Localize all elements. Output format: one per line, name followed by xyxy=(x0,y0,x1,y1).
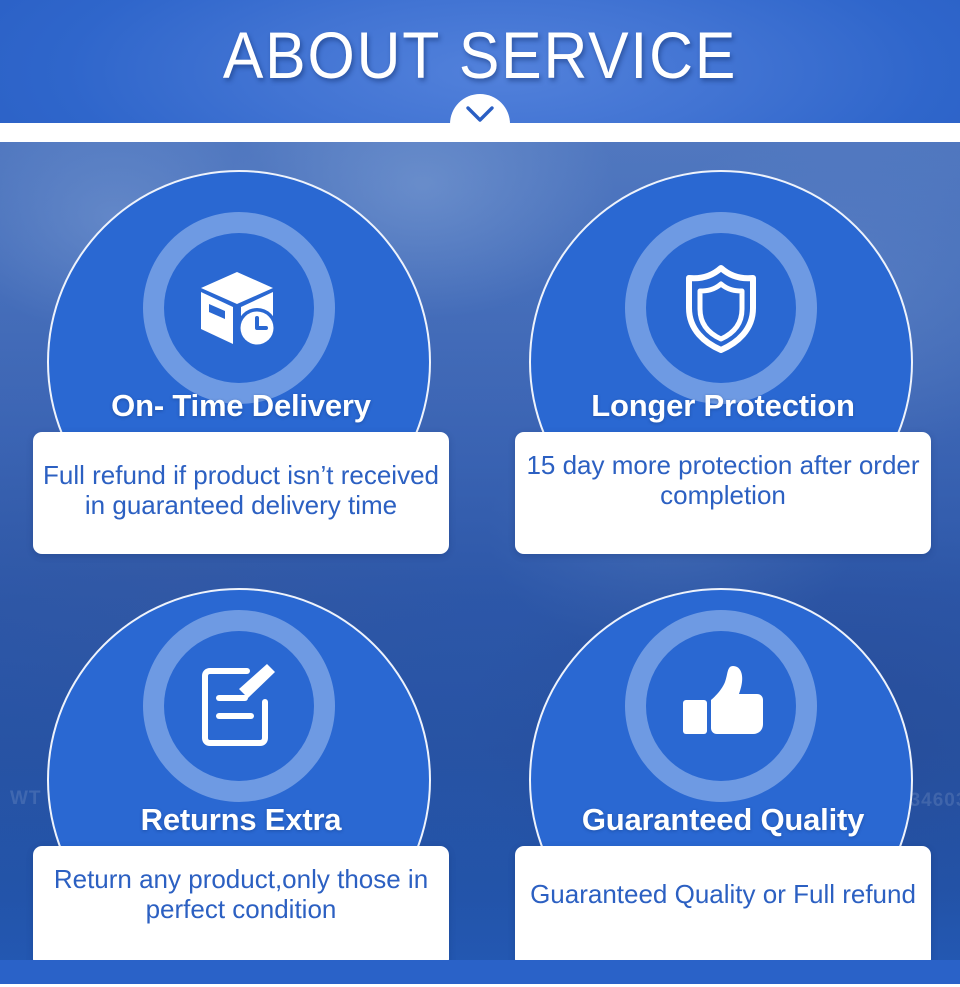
about-service-banner: ABOUT SERVICE WT 134603 xyxy=(0,0,960,987)
document-edit-icon xyxy=(164,631,314,781)
service-card-returns-extra[interactable]: Returns Extra Return any product,only th… xyxy=(0,588,482,987)
shield-icon xyxy=(646,233,796,383)
package-clock-icon xyxy=(164,233,314,383)
thumbs-up-icon xyxy=(646,631,796,781)
service-card-guaranteed-quality[interactable]: Guaranteed Quality Guaranteed Quality or… xyxy=(482,588,960,987)
icon-ring xyxy=(143,610,335,802)
card-title: On- Time Delivery xyxy=(0,387,482,425)
icon-ring xyxy=(625,212,817,404)
bottom-strip xyxy=(0,960,960,984)
card-title: Returns Extra xyxy=(0,801,482,839)
card-description: Return any product,only those in perfect… xyxy=(43,865,439,924)
card-description: Guaranteed Quality or Full refund xyxy=(525,880,921,910)
icon-ring xyxy=(143,212,335,404)
card-description-box: Return any product,only those in perfect… xyxy=(33,846,449,968)
service-card-on-time-delivery[interactable]: On- Time Delivery Full refund if product… xyxy=(0,150,482,570)
card-description: 15 day more protection after order compl… xyxy=(525,451,921,510)
card-description: Full refund if product isn’t received in… xyxy=(43,461,439,520)
service-card-longer-protection[interactable]: Longer Protection 15 day more protection… xyxy=(482,150,960,570)
card-description-box: Full refund if product isn’t received in… xyxy=(33,432,449,554)
card-title: Guaranteed Quality xyxy=(482,801,960,839)
card-description-box: 15 day more protection after order compl… xyxy=(515,432,931,554)
card-title: Longer Protection xyxy=(482,387,960,425)
icon-ring xyxy=(625,610,817,802)
card-description-box: Guaranteed Quality or Full refund xyxy=(515,846,931,968)
page-title: ABOUT SERVICE xyxy=(38,14,921,96)
